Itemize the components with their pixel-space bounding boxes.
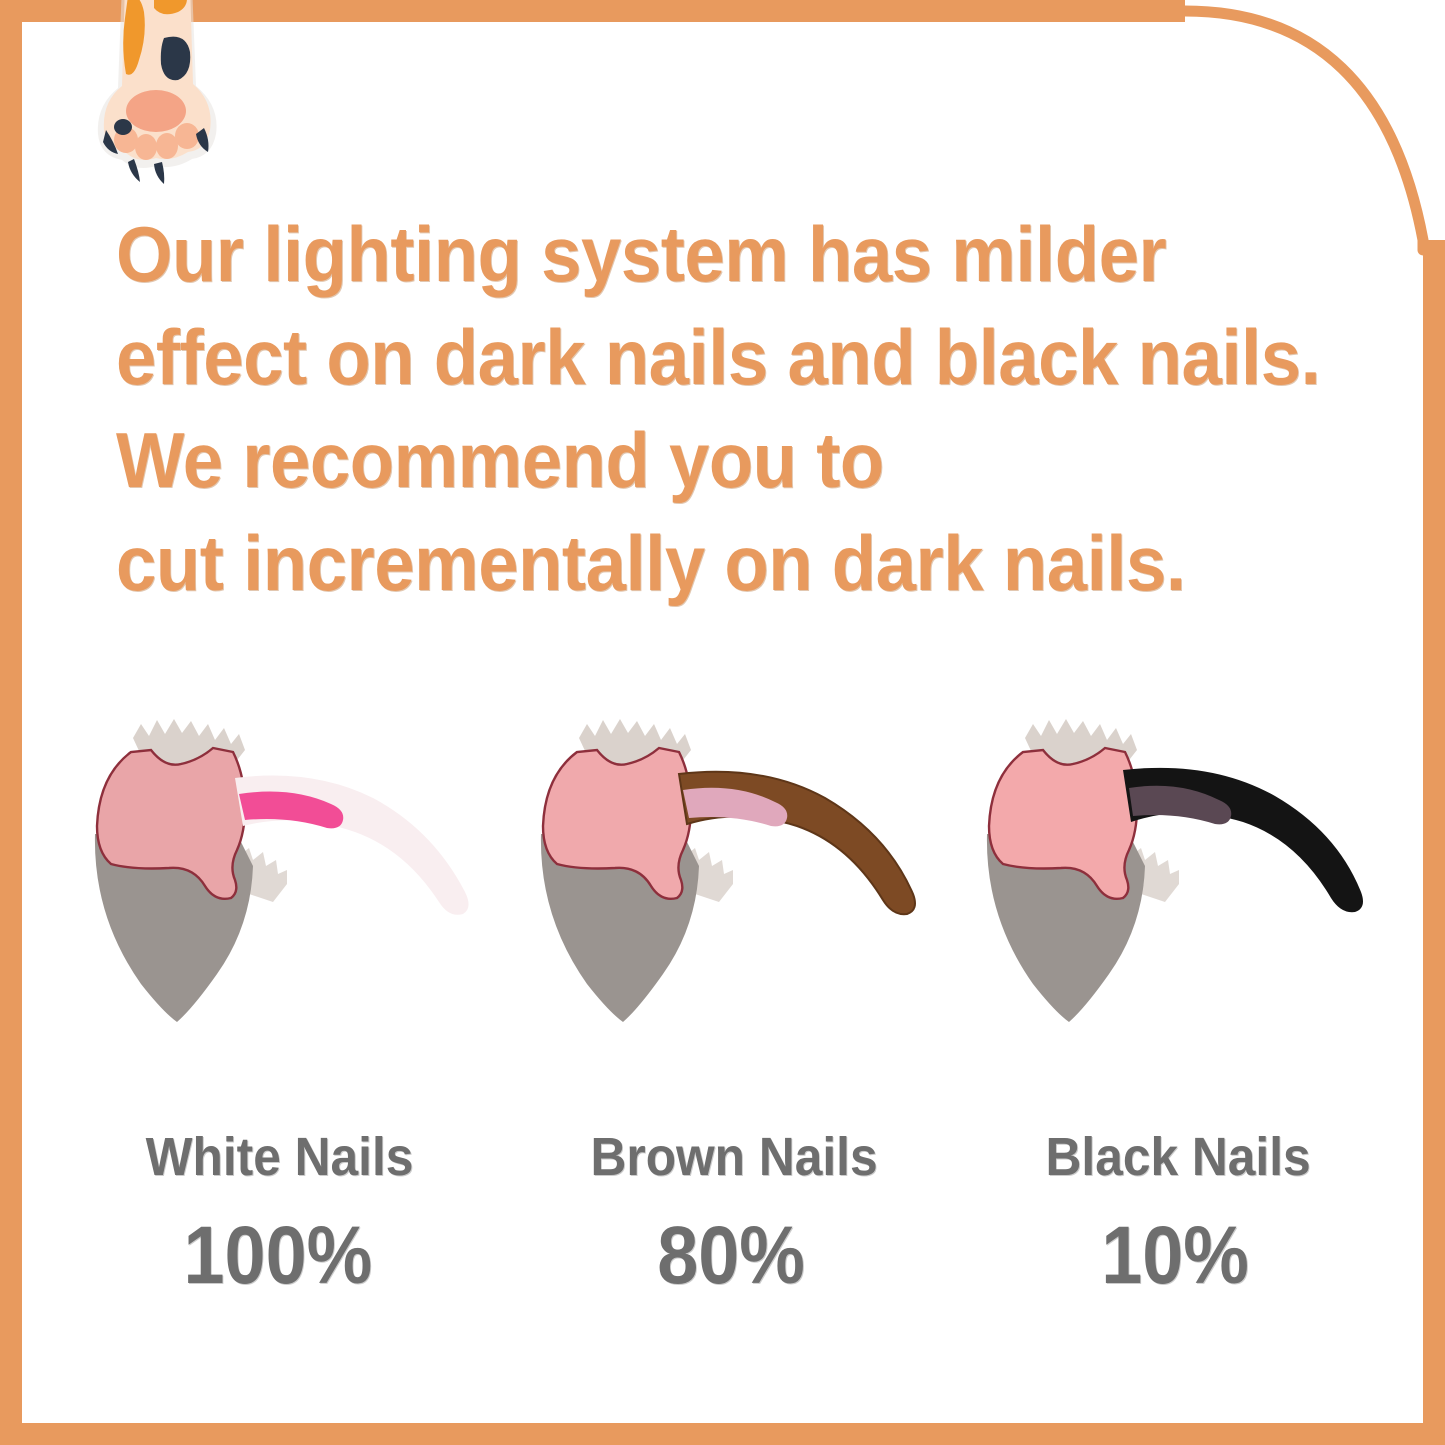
brown-nail-svg bbox=[519, 716, 939, 1046]
white-nail-percent: 100% bbox=[184, 1212, 373, 1300]
white-nail-label: White Nails bbox=[146, 1128, 414, 1186]
headline-line-2: effect on dark nails and black nails. bbox=[116, 306, 1260, 409]
nail-column-white: White Nails 100% bbox=[60, 716, 506, 1300]
cat-paw-svg bbox=[92, 0, 222, 184]
white-nail-illustration bbox=[73, 716, 493, 1046]
black-nail-label: Black Nails bbox=[1045, 1128, 1310, 1186]
nail-column-brown: Brown Nails 80% bbox=[506, 716, 952, 1300]
headline-line-4: cut incrementally on dark nails. bbox=[116, 512, 1260, 615]
headline: Our lighting system has milder effect on… bbox=[116, 203, 1260, 615]
headline-line-1: Our lighting system has milder bbox=[116, 203, 1260, 306]
black-nail-svg bbox=[965, 716, 1385, 1046]
headline-line-3: We recommend you to bbox=[116, 409, 1260, 512]
infographic-page: Our lighting system has milder effect on… bbox=[0, 0, 1445, 1445]
nail-column-black: Black Nails 10% bbox=[952, 716, 1398, 1300]
brown-nail-percent: 80% bbox=[657, 1212, 805, 1300]
brown-nail-label: Brown Nails bbox=[590, 1128, 877, 1186]
black-nail-percent: 10% bbox=[1101, 1212, 1249, 1300]
brown-nail-illustration bbox=[519, 716, 939, 1046]
cat-paw-icon bbox=[92, 0, 222, 184]
black-nail-illustration bbox=[965, 716, 1385, 1046]
white-nail-svg bbox=[73, 716, 493, 1046]
nail-comparison-row: White Nails 100% Brown Nails 80% bbox=[60, 716, 1400, 1336]
